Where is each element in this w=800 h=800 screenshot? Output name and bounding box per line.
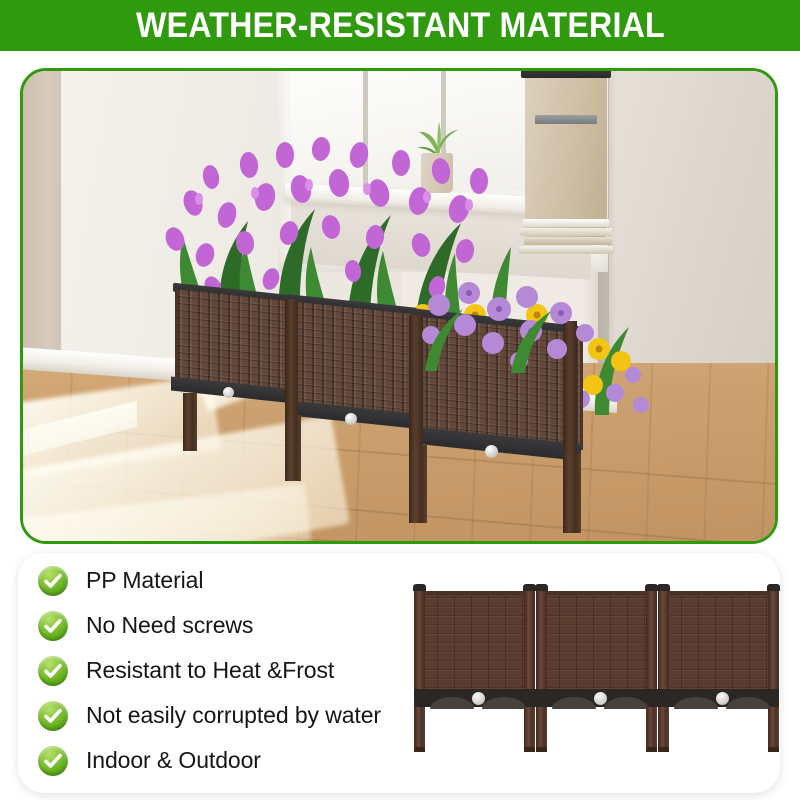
diagram-foot — [524, 747, 535, 752]
feature-label: Indoor & Outdoor — [86, 747, 261, 774]
planter-body — [175, 289, 297, 394]
planter-post — [285, 299, 298, 417]
diagram-post — [768, 588, 779, 689]
diagram-leg — [768, 707, 779, 751]
list-item: No Need screws — [20, 603, 420, 648]
diagram-panel — [542, 591, 652, 689]
diagram-drain-plug — [716, 692, 729, 705]
diagram-post-cap — [413, 584, 426, 591]
planter-leg — [563, 453, 581, 533]
planter-leg — [285, 415, 301, 481]
header-banner: WEATHER-RESISTANT MATERIAL — [0, 0, 800, 51]
diagram-leg — [524, 707, 535, 751]
diagram-post — [414, 588, 425, 689]
list-item: Indoor & Outdoor — [20, 738, 420, 783]
feature-label: No Need screws — [86, 612, 253, 639]
feature-label: Resistant to Heat &Frost — [86, 657, 334, 684]
diagram-post-cap — [535, 584, 548, 591]
diagram-post-cap — [657, 584, 670, 591]
drain-plug — [485, 445, 498, 458]
diagram-panel-top — [420, 591, 530, 595]
planter-leg — [183, 393, 197, 451]
product-photo — [23, 71, 775, 541]
diagram-foot — [658, 747, 669, 752]
diagram-panel — [420, 591, 530, 689]
page-title: WEATHER-RESISTANT MATERIAL — [136, 6, 665, 46]
list-item: Resistant to Heat &Frost — [20, 648, 420, 693]
diagram-panel-top — [542, 591, 652, 595]
product-photo-frame — [20, 68, 778, 544]
diagram-post — [524, 588, 535, 689]
check-circle-icon — [38, 566, 68, 596]
drain-plug — [223, 387, 234, 398]
diagram-panel — [664, 591, 774, 689]
check-circle-icon — [38, 746, 68, 776]
diagram-foot — [536, 747, 547, 752]
diagram-leg — [536, 707, 547, 751]
diagram-post — [646, 588, 657, 689]
check-circle-icon — [38, 611, 68, 641]
check-circle-icon — [38, 656, 68, 686]
diagram-leg — [646, 707, 657, 751]
diagram-leg — [658, 707, 669, 751]
check-circle-icon — [38, 701, 68, 731]
diagram-foot — [768, 747, 779, 752]
list-item: Not easily corrupted by water — [20, 693, 420, 738]
planter-body — [289, 301, 421, 419]
diagram-drain-plug — [594, 692, 607, 705]
diagram-post-cap — [767, 584, 780, 591]
feature-label: PP Material — [86, 567, 203, 594]
diagram-foot — [414, 747, 425, 752]
product-diagram — [408, 580, 780, 780]
cabinet-top-object — [521, 71, 611, 78]
diagram-post — [536, 588, 547, 689]
list-item: PP Material — [20, 558, 420, 603]
drain-plug — [345, 413, 357, 425]
diagram-foot — [646, 747, 657, 752]
diagram-drain-plug — [472, 692, 485, 705]
feature-label: Not easily corrupted by water — [86, 702, 381, 729]
diagram-post — [658, 588, 669, 689]
planter-leg — [409, 445, 427, 523]
feature-list: PP Material No Need screws Resistant to … — [20, 558, 420, 783]
diagram-leg — [414, 707, 425, 751]
diagram-panel-top — [664, 591, 774, 595]
